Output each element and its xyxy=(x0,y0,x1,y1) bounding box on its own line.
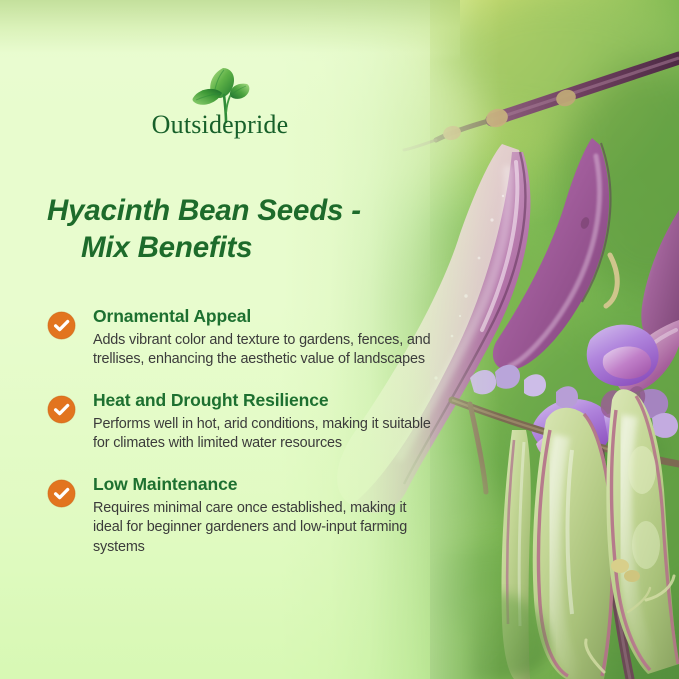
headline-line-1: Hyacinth Bean Seeds - xyxy=(47,194,361,227)
check-circle-icon xyxy=(47,479,76,508)
benefit-item: Heat and Drought Resilience Performs wel… xyxy=(47,390,432,453)
check-circle-icon xyxy=(47,311,76,340)
content-column: Outsidepride Hyacinth Bean Seeds - Mix B… xyxy=(0,0,440,679)
benefit-description: Adds vibrant color and texture to garden… xyxy=(93,331,432,369)
page-title: Hyacinth Bean Seeds - Mix Benefits xyxy=(47,192,427,266)
benefit-title: Heat and Drought Resilience xyxy=(93,390,432,412)
check-circle-icon xyxy=(47,395,76,424)
benefit-description: Requires minimal care once established, … xyxy=(93,499,432,556)
benefit-title: Low Maintenance xyxy=(93,474,432,496)
benefit-item: Ornamental Appeal Adds vibrant color and… xyxy=(47,306,432,369)
benefits-list: Ornamental Appeal Adds vibrant color and… xyxy=(47,306,432,557)
benefit-title: Ornamental Appeal xyxy=(93,306,432,328)
benefit-item: Low Maintenance Requires minimal care on… xyxy=(47,474,432,556)
headline-line-2: Mix Benefits xyxy=(47,229,427,266)
benefit-description: Performs well in hot, arid conditions, m… xyxy=(93,415,432,453)
brand-logo[interactable]: Outsidepride xyxy=(0,62,440,138)
brand-name: Outsidepride xyxy=(0,112,440,138)
promo-card: Outsidepride Hyacinth Bean Seeds - Mix B… xyxy=(0,0,679,679)
